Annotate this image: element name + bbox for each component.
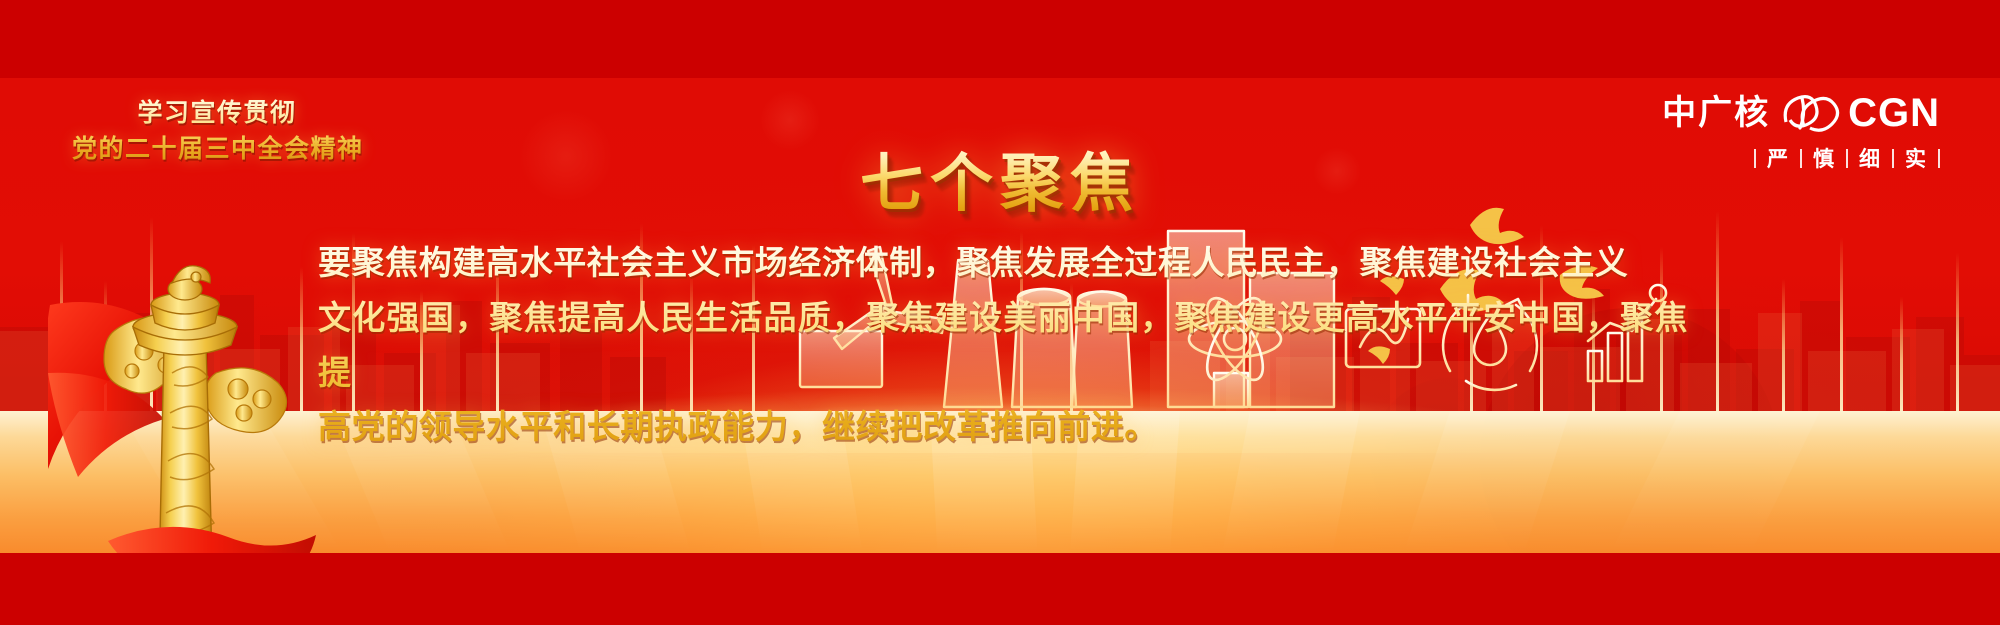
- slogan-char-3: 细: [1859, 143, 1881, 173]
- slogan-divider: [1938, 149, 1940, 168]
- cgn-swirl-mark: [1776, 92, 1842, 134]
- cgn-logo: 中广核 CGN 严 慎 细 实: [1662, 92, 1940, 173]
- slogan-divider: [1754, 149, 1756, 168]
- slogan-divider: [1846, 149, 1848, 168]
- body-copy-line1: 要聚焦构建高水平社会主义市场经济体制，聚焦发展全过程人民民主，聚焦建设社会主义: [318, 236, 1688, 291]
- cgn-logo-chinese: 中广核: [1662, 96, 1770, 130]
- red-silk-ribbon: [108, 527, 316, 553]
- body-copy-line2: 文化强国，聚焦提高人民生活品质，聚焦建设美丽中国，聚焦建设更高水平平安中国，聚焦…: [318, 291, 1688, 401]
- cloud-wing: [205, 368, 286, 433]
- column-shaft: [158, 341, 214, 553]
- slogan-divider: [1800, 149, 1802, 168]
- cgn-logo-row: 中广核 CGN: [1662, 92, 1940, 134]
- top-frame-band: [0, 0, 2000, 78]
- slogan-char-4: 实: [1905, 143, 1927, 173]
- body-copy: 要聚焦构建高水平社会主义市场经济体制，聚焦发展全过程人民民主，聚焦建设社会主义 …: [318, 236, 1688, 455]
- cgn-logo-english: CGN: [1848, 93, 1940, 133]
- slogan-char-1: 严: [1767, 143, 1789, 173]
- body-copy-line3: 高党的领导水平和长期执政能力，继续把改革推向前进。: [318, 400, 1688, 455]
- cgn-logo-slogan: 严 慎 细 实: [1662, 143, 1940, 173]
- campaign-heading-line1: 学习宣传贯彻: [72, 96, 362, 132]
- propaganda-banner: 学习宣传贯彻 党的二十届三中全会精神 七个聚焦 要聚焦构建高水平社会主义市场经济…: [0, 0, 2000, 625]
- column-capital: [133, 293, 237, 355]
- bottom-frame-band: [0, 553, 2000, 625]
- slogan-char-2: 慎: [1813, 143, 1835, 173]
- huabiao-column: [48, 223, 318, 553]
- slogan-divider: [1892, 149, 1894, 168]
